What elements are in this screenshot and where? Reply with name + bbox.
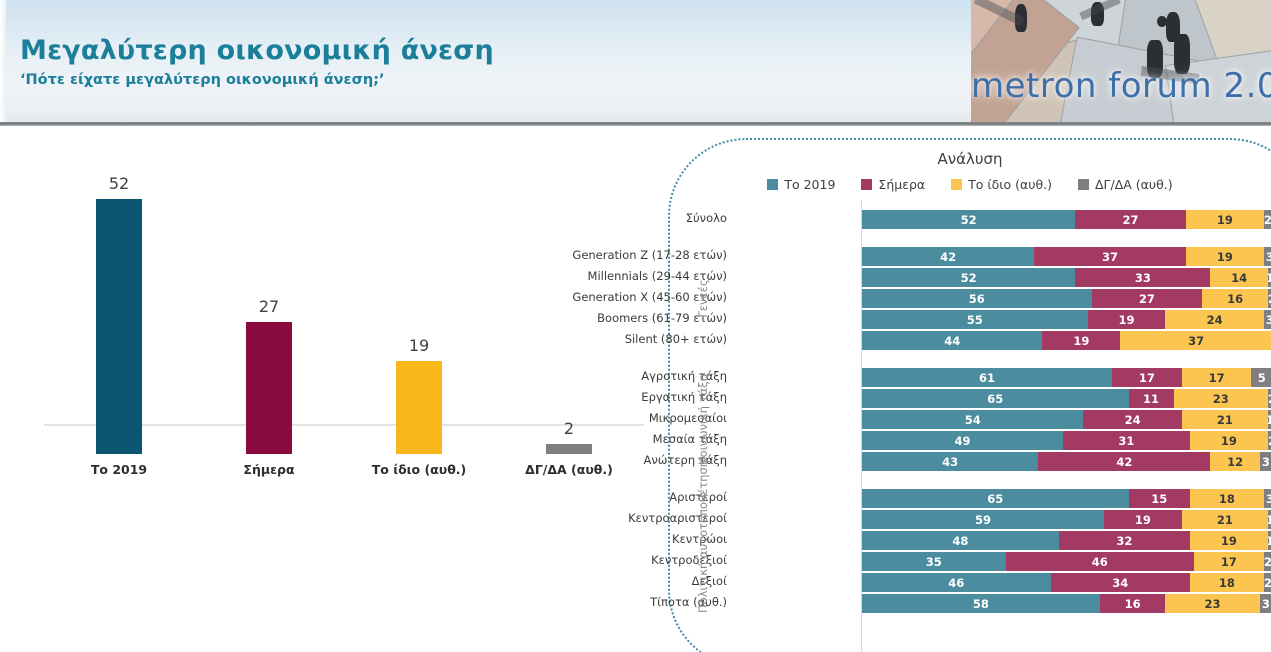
stacked-bar-row-label: Αριστεροί [307,490,727,504]
main-chart-column: 27Σήμερα [194,160,344,454]
stacked-bar-segment: 56 [862,289,1092,308]
legend-label: Σήμερα [878,177,925,192]
stacked-bar-segment: 37 [1120,331,1271,350]
stacked-bar-row-label: Generation X (45-60 ετών) [307,290,727,304]
stacked-bar-segment: 24 [1165,310,1263,329]
stacked-bar-segment: 19 [1104,510,1182,529]
legend-item[interactable]: ΔΓ/ΔΑ (αυθ.) [1078,177,1173,192]
stacked-bar-segment: 31 [1063,431,1190,450]
stacked-bar-row-label: Εργατική τάξη [307,390,727,404]
stacked-bar-segment: 15 [1129,489,1191,508]
stacked-bar-segment: 58 [862,594,1100,613]
stacked-bar-segment: 19 [1186,210,1264,229]
stacked-bar-row: Μεσαία τάξη4931192 [670,431,1271,450]
stacked-bar: 5919211 [862,510,1271,529]
stacked-bar: 5227192 [862,210,1271,229]
stacked-bar-row: Generation X (45-60 ετών)5627162 [670,289,1271,308]
stacked-bar-segment: 44 [862,331,1042,350]
main-chart-category-label: Σήμερα [243,462,294,477]
stacked-bar-segment: 18 [1190,573,1264,592]
stacked-bar-segment: 3 [1264,247,1271,266]
stacked-bar-segment: 5 [1251,368,1271,387]
stacked-bar: 5424211 [862,410,1271,429]
stacked-bar-segment: 52 [862,210,1075,229]
page-subtitle: ‘Πότε είχατε μεγαλύτερη οικονομική άνεση… [20,72,385,88]
stacked-bar-row-label: Κεντροδεξιοί [307,553,727,567]
stacked-bar: 5519243 [862,310,1271,329]
stacked-bar: 4342123 [862,452,1271,471]
stacked-bar-segment: 19 [1190,531,1268,550]
legend-label: Το ίδιο (αυθ.) [968,177,1052,192]
stacked-bar-segment: 3 [1260,452,1271,471]
stacked-bar-segment: 14 [1210,268,1267,287]
stacked-bar-segment: 23 [1165,594,1259,613]
group-axis-label-social_class: Κοινωνική τάξη [696,368,710,471]
stacked-bar-row-label: Generation Z (17-28 ετών) [307,248,727,262]
stacked-bar-segment: 3 [1264,489,1271,508]
stacked-bar: 6515183 [862,489,1271,508]
stacked-bar-row-label: Silent (80+ ετών) [307,332,727,346]
stacked-bar: 5233141 [862,268,1271,287]
stacked-bar-segment: 19 [1042,331,1120,350]
stacked-bar-segment: 24 [1083,410,1181,429]
stacked-bar-segment: 37 [1034,247,1186,266]
stacked-bar-segment: 49 [862,431,1063,450]
stacked-bar-segment: 19 [1190,431,1268,450]
stacked-bar: 4634182 [862,573,1271,592]
stacked-bar-segment: 17 [1182,368,1252,387]
stacked-bar-row-label: Κεντρώοι [307,532,727,546]
slide-header: Μεγαλύτερη οικονομική άνεση ‘Πότε είχατε… [0,0,1271,126]
stacked-bar-row-label: Μεσαία τάξη [307,432,727,446]
stacked-bar: 4931192 [862,431,1271,450]
legend-swatch-icon [951,179,962,190]
stacked-bar-row: Αριστεροί6515183 [670,489,1271,508]
stacked-bar-row-label: Δεξιοί [307,574,727,588]
legend-swatch-icon [767,179,778,190]
stacked-bar-segment: 48 [862,531,1059,550]
stacked-bar-segment: 3 [1260,594,1271,613]
stacked-bar-segment: 18 [1190,489,1264,508]
logo-caption: metron forum 2.0 [971,66,1271,106]
group-axis-label-generations: Γενεές [696,247,710,350]
stacked-bar-row: Generation Z (17-28 ετών)4237193 [670,247,1271,266]
main-chart-column: 52Το 2019 [44,160,194,454]
analysis-title: Ανάλυση [670,150,1270,168]
stacked-bar-segment: 21 [1182,510,1268,529]
stacked-bar-segment: 43 [862,452,1038,471]
stacked-bar-segment: 65 [862,389,1129,408]
stacked-bar-row: Τίποτα (αυθ.)5816233 [670,594,1271,613]
header-divider [0,122,1271,126]
main-chart-value-label: 27 [259,297,279,316]
stacked-bar-row-label: Μικρομεσαίοι [307,411,727,425]
stacked-bar-segment: 19 [1186,247,1264,266]
stacked-bar-chart: Σύνολο5227192Generation Z (17-28 ετών)42… [670,200,1271,652]
stacked-bar: 4237193 [862,247,1271,266]
legend-label: Το 2019 [784,177,835,192]
page-title: Μεγαλύτερη οικονομική άνεση [20,35,494,66]
metron-forum-logo: metron forum 2.0 [971,0,1271,122]
main-chart-column: 19Το ίδιο (αυθ.) [344,160,494,454]
stacked-bar: 5816233 [862,594,1271,613]
stacked-bar-row-label: Κεντροαριστεροί [307,511,727,525]
stacked-bar-row: Κεντροδεξιοί3546172 [670,552,1271,571]
stacked-bar-segment: 16 [1202,289,1268,308]
header-left-edge [0,0,6,126]
legend-swatch-icon [1078,179,1089,190]
stacked-bar-row-label: Αγροτική τάξη [307,369,727,383]
legend-swatch-icon [861,179,872,190]
stacked-bar: 4832191 [862,531,1271,550]
stacked-bar-segment: 11 [1129,389,1174,408]
stacked-bar-segment: 52 [862,268,1075,287]
stacked-bar-row-label: Boomers (61-79 ετών) [307,311,727,325]
main-chart-category-label: Το 2019 [91,462,147,477]
stacked-bar-row-label: Σύνολο [307,211,727,225]
stacked-bar-segment: 46 [1006,552,1195,571]
stacked-bar-row: Σύνολο5227192 [670,210,1271,229]
stacked-bar-row: Millennials (29-44 ετών)5233141 [670,268,1271,287]
stacked-bar-row: Δεξιοί4634182 [670,573,1271,592]
stacked-bar-segment: 65 [862,489,1129,508]
legend-item[interactable]: Σήμερα [861,177,925,192]
stacked-bar-segment: 21 [1182,410,1268,429]
stacked-bar-row-label: Ανώτερη τάξη [307,453,727,467]
stacked-bar-row: Boomers (61-79 ετών)5519243 [670,310,1271,329]
stacked-bar: 3546172 [862,552,1271,571]
stacked-bar-segment: 34 [1051,573,1190,592]
stacked-bar-segment: 59 [862,510,1104,529]
stacked-bar-row: Κεντρώοι4832191 [670,531,1271,550]
legend-item[interactable]: Το 2019 [767,177,835,192]
stacked-bar-segment: 2 [1264,210,1271,229]
stacked-bar-segment: 35 [862,552,1006,571]
analysis-panel: Ανάλυση Το 2019ΣήμεραΤο ίδιο (αυθ.)ΔΓ/ΔΑ… [668,138,1271,652]
stacked-bar-segment: 17 [1112,368,1182,387]
main-chart-value-label: 52 [109,174,129,193]
stacked-bar-row: Ανώτερη τάξη4342123 [670,452,1271,471]
stacked-bar-segment: 2 [1264,552,1271,571]
stacked-bar-row: Κεντροαριστεροί5919211 [670,510,1271,529]
stacked-bar-segment: 2 [1264,573,1271,592]
main-chart-bar [96,199,142,454]
stacked-bar-segment: 42 [1038,452,1210,471]
stacked-bar-segment: 23 [1174,389,1268,408]
main-chart-plot: 52Το 201927Σήμερα19Το ίδιο (αυθ.)2ΔΓ/ΔΑ … [44,160,644,454]
stacked-bar: 441937 [862,331,1271,350]
stacked-bar-row: Μικρομεσαίοι5424211 [670,410,1271,429]
stacked-bar-segment: 3 [1264,310,1271,329]
stacked-bar-segment: 12 [1210,452,1259,471]
stacked-bar-segment: 55 [862,310,1088,329]
stacked-bar-row-label: Millennials (29-44 ετών) [307,269,727,283]
stacked-bar-segment: 54 [862,410,1083,429]
stacked-bar: 5627162 [862,289,1271,308]
stacked-bar-segment: 19 [1088,310,1166,329]
stacked-bar-row: Αγροτική τάξη6117175 [670,368,1271,387]
stacked-bar-segment: 27 [1075,210,1186,229]
legend-label: ΔΓ/ΔΑ (αυθ.) [1095,177,1173,192]
stacked-bar-segment: 42 [862,247,1034,266]
stacked-bar-row: Silent (80+ ετών)441937 [670,331,1271,350]
stacked-bar-segment: 16 [1100,594,1166,613]
slide-root: Μεγαλύτερη οικονομική άνεση ‘Πότε είχατε… [0,0,1271,652]
stacked-bar-segment: 46 [862,573,1051,592]
main-chart-column: 2ΔΓ/ΔΑ (αυθ.) [494,160,644,454]
stacked-bar-segment: 27 [1092,289,1203,308]
stacked-bar-row-label: Τίποτα (αυθ.) [307,595,727,609]
stacked-bar-segment: 33 [1075,268,1210,287]
stacked-bar-row: Εργατική τάξη6511232 [670,389,1271,408]
main-chart-bar [246,322,292,454]
stacked-bar-segment: 17 [1194,552,1264,571]
group-axis-label-political: Πολιτική αυτοτοποθέτηση [696,489,710,613]
stacked-bar: 6117175 [862,368,1271,387]
stacked-bar: 6511232 [862,389,1271,408]
stacked-bar-segment: 32 [1059,531,1190,550]
analysis-legend: Το 2019ΣήμεραΤο ίδιο (αυθ.)ΔΓ/ΔΑ (αυθ.) [670,177,1270,192]
legend-item[interactable]: Το ίδιο (αυθ.) [951,177,1052,192]
stacked-bar-segment: 61 [862,368,1112,387]
